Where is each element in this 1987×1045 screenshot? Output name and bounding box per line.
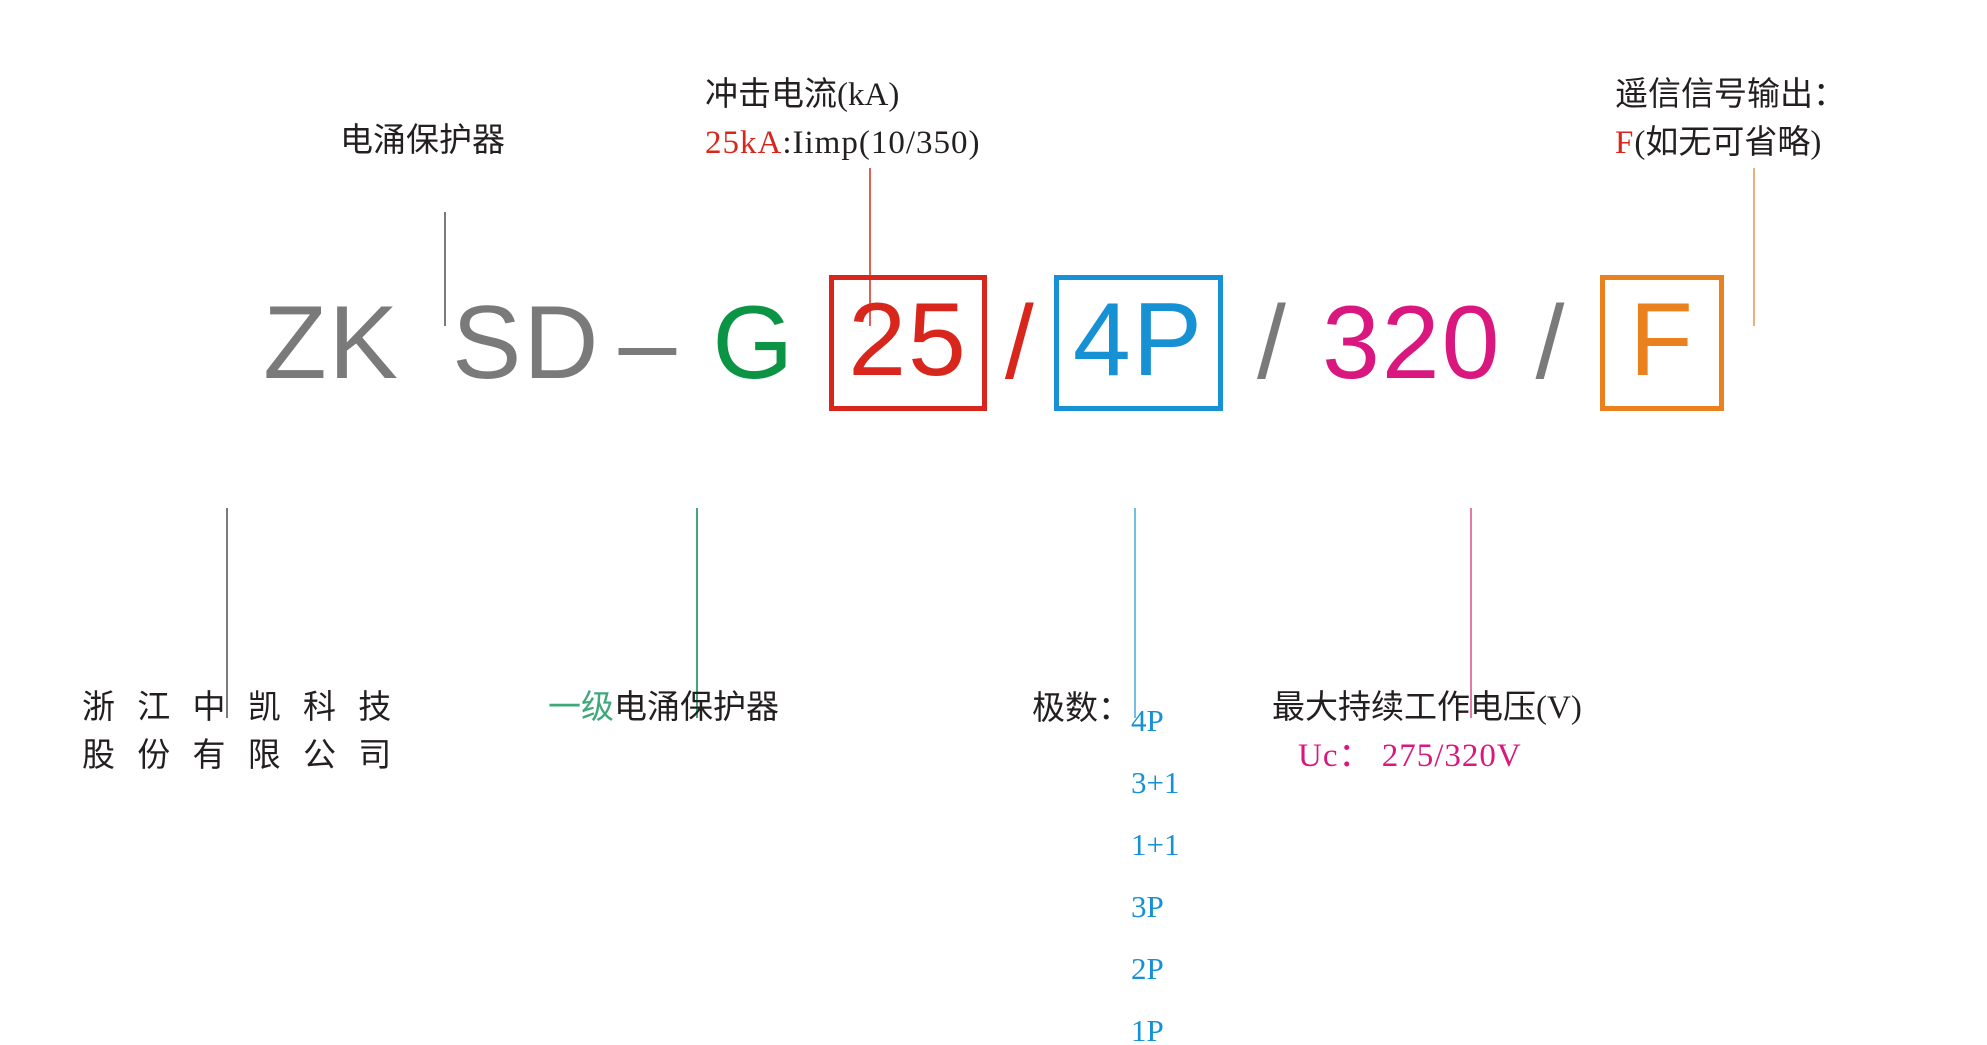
annotation-grade-desc: 一级电涌保护器 bbox=[548, 685, 779, 733]
annotation-company: 浙 江 中 凯 科 技 股 份 有 限 公 司 bbox=[82, 685, 398, 781]
annotation-pole-count-values: 4P 3+1 1+1 3P 2P 1P bbox=[1131, 690, 1179, 1045]
pole-option: 1+1 bbox=[1131, 814, 1179, 876]
code-slash-2: / bbox=[1257, 291, 1288, 395]
pole-option: 2P bbox=[1131, 938, 1179, 1000]
model-code-row: ZK SD – G 25 / 4P / 320 / F bbox=[0, 268, 1987, 418]
code-poles-boxed: 4P bbox=[1054, 275, 1223, 411]
annotation-company-line1: 浙 江 中 凯 科 技 bbox=[82, 685, 398, 733]
code-slash-1: / bbox=[1005, 291, 1036, 395]
annotation-grade-desc-text: 电涌保护器 bbox=[614, 690, 779, 726]
leader-line-pole-count bbox=[1134, 508, 1136, 718]
code-grade: G bbox=[712, 291, 795, 395]
annotation-max-voltage-line1: 最大持续工作电压(V) bbox=[1272, 685, 1582, 733]
code-series: SD bbox=[452, 291, 600, 395]
pole-option: 4P bbox=[1131, 690, 1179, 752]
code-dash: – bbox=[618, 291, 678, 395]
annotation-remote-signal-line1: 遥信信号输出： bbox=[1615, 72, 1846, 120]
annotation-remote-signal-line2: F(如无可省略) bbox=[1615, 120, 1846, 168]
annotation-remote-signal-code: F bbox=[1615, 125, 1634, 161]
diagram-canvas: 电涌保护器 冲击电流(kA) 25kA:Iimp(10/350) 遥信信号输出：… bbox=[0, 0, 1987, 1045]
annotation-max-voltage: 最大持续工作电压(V) Uc： 275/320V bbox=[1272, 685, 1582, 781]
annotation-impulse-current: 冲击电流(kA) 25kA:Iimp(10/350) bbox=[705, 72, 981, 168]
code-signal-boxed: F bbox=[1600, 275, 1724, 411]
annotation-impulse-current-value: 25kA bbox=[705, 125, 782, 161]
annotation-spd-name-line1: 电涌保护器 bbox=[340, 118, 505, 166]
annotation-impulse-current-suffix: :Iimp(10/350) bbox=[782, 125, 980, 161]
annotation-grade-desc-level: 一级 bbox=[548, 690, 614, 726]
pole-option: 3+1 bbox=[1131, 752, 1179, 814]
annotation-spd-name: 电涌保护器 bbox=[340, 118, 505, 166]
annotation-impulse-current-line2: 25kA:Iimp(10/350) bbox=[705, 120, 981, 168]
code-voltage: 320 bbox=[1322, 291, 1502, 395]
pole-option: 1P bbox=[1131, 1000, 1179, 1045]
annotation-company-line2: 股 份 有 限 公 司 bbox=[82, 733, 398, 781]
code-brand: ZK bbox=[263, 291, 400, 395]
code-slash-3: / bbox=[1535, 291, 1566, 395]
annotation-pole-count: 极数： 4P 3+1 1+1 3P 2P 1P bbox=[1032, 690, 1179, 1045]
annotation-remote-signal-note: (如无可省略) bbox=[1634, 125, 1821, 161]
annotation-remote-signal: 遥信信号输出： F(如无可省略) bbox=[1615, 72, 1846, 168]
annotation-pole-count-label: 极数： bbox=[1032, 690, 1131, 730]
annotation-max-voltage-line2: Uc： 275/320V bbox=[1272, 733, 1582, 781]
annotation-impulse-current-line1: 冲击电流(kA) bbox=[705, 72, 981, 120]
code-impulse-current-boxed: 25 bbox=[829, 275, 987, 411]
pole-option: 3P bbox=[1131, 876, 1179, 938]
